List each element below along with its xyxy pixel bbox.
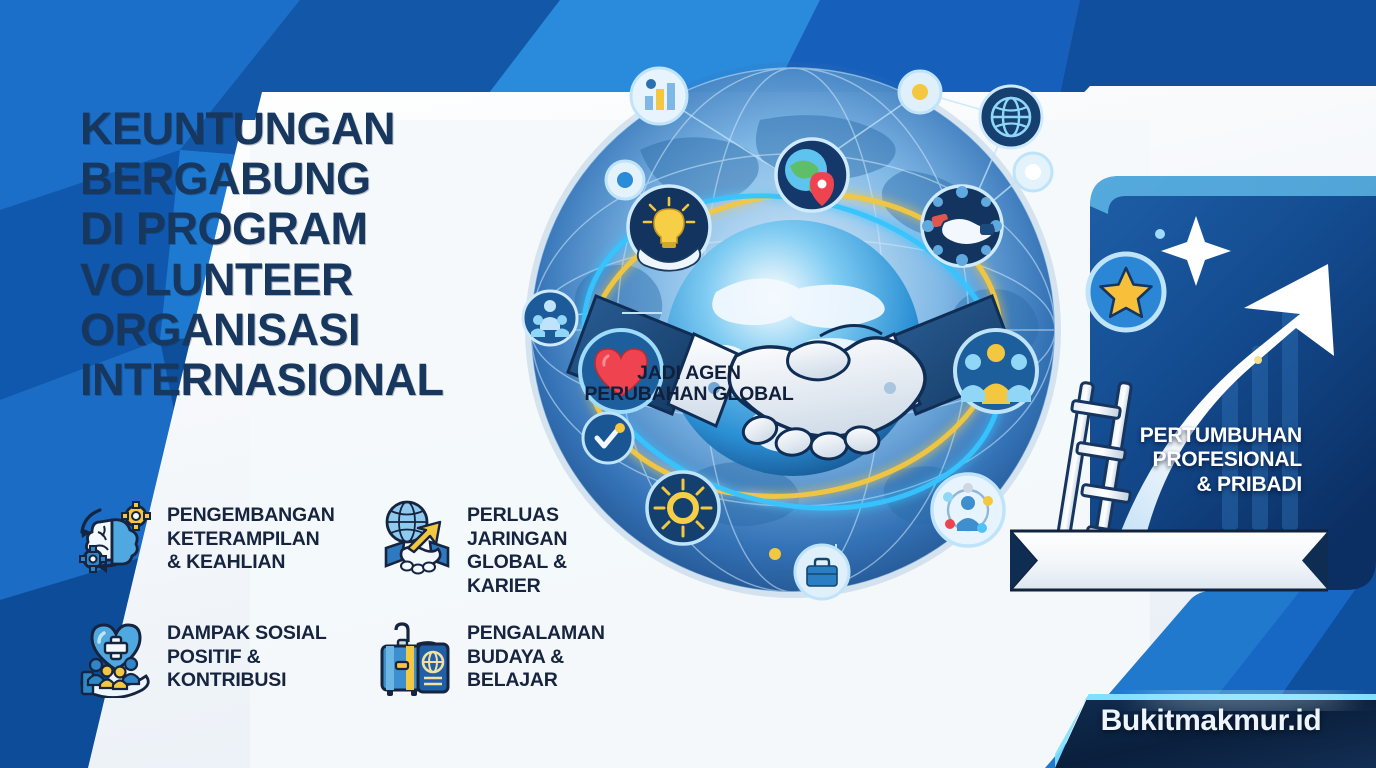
growth-line-3: & PRIBADI [1022, 473, 1302, 497]
benefit-line: KONTRIBUSI [167, 669, 327, 693]
benefit-line: JARINGAN [467, 528, 567, 552]
benefit-label: PERLUAS JARINGAN GLOBAL & KARIER [467, 494, 567, 598]
growth-line-2: PROFESIONAL [1022, 448, 1302, 472]
brand-bar: Bukitmakmur.id [1055, 690, 1376, 768]
page-title: KEUNTUNGAN BERGABUNG DI PROGRAM VOLUNTEE… [80, 104, 550, 405]
headline-line-3: DI PROGRAM [80, 204, 550, 254]
benefit-label: PENGALAMAN BUDAYA & BELAJAR [467, 612, 605, 693]
brand-name: Bukitmakmur.id [1055, 690, 1367, 752]
ribbon-line-1: JADI AGEN [637, 363, 741, 384]
benefit-line: KARIER [467, 575, 567, 599]
benefits-list: PENGEMBANGAN KETERAMPILAN & KEAHLIAN [74, 494, 674, 714]
benefit-line: POSITIF & [167, 646, 327, 670]
benefit-line: BUDAYA & [467, 646, 605, 670]
benefit-line: & KEAHLIAN [167, 551, 335, 575]
headline-line-4: VOLUNTEER [80, 255, 550, 305]
brain-gears-icon [74, 496, 158, 580]
headline-line-2: BERGABUNG [80, 154, 550, 204]
benefit-line: PENGALAMAN [467, 622, 605, 646]
heart-hand-people-icon [74, 614, 158, 698]
infographic-canvas: JADI AGEN PERUBAHAN GLOBAL KEUNTUNGAN BE… [0, 0, 1376, 768]
benefit-item-impact: DAMPAK SOSIAL POSITIF & KONTRIBUSI [74, 612, 374, 722]
benefit-line: GLOBAL & [467, 551, 567, 575]
benefit-line: PENGEMBANGAN [167, 504, 335, 528]
benefit-label: PENGEMBANGAN KETERAMPILAN & KEAHLIAN [167, 494, 335, 575]
benefit-label: DAMPAK SOSIAL POSITIF & KONTRIBUSI [167, 612, 327, 693]
suitcase-passport-icon [374, 614, 458, 698]
growth-panel-label: PERTUMBUHAN PROFESIONAL & PRIBADI [1022, 424, 1302, 497]
headline-line-1: KEUNTUNGAN [80, 104, 550, 154]
benefit-line: DAMPAK SOSIAL [167, 622, 327, 646]
headline-line-6: INTERNASIONAL [80, 355, 550, 405]
benefit-item-culture: PENGALAMAN BUDAYA & BELAJAR [374, 612, 664, 722]
benefit-line: BELAJAR [467, 669, 605, 693]
headline-line-5: ORGANISASI [80, 305, 550, 355]
benefit-item-network: PERLUAS JARINGAN GLOBAL & KARIER [374, 494, 664, 612]
ribbon-line-2: PERUBAHAN GLOBAL [584, 384, 793, 405]
globe-handshake-arrow-icon [374, 496, 458, 580]
benefit-item-skills: PENGEMBANGAN KETERAMPILAN & KEAHLIAN [74, 494, 374, 612]
benefit-line: PERLUAS [467, 504, 567, 528]
growth-line-1: PERTUMBUHAN [1022, 424, 1302, 448]
benefit-line: KETERAMPILAN [167, 528, 335, 552]
